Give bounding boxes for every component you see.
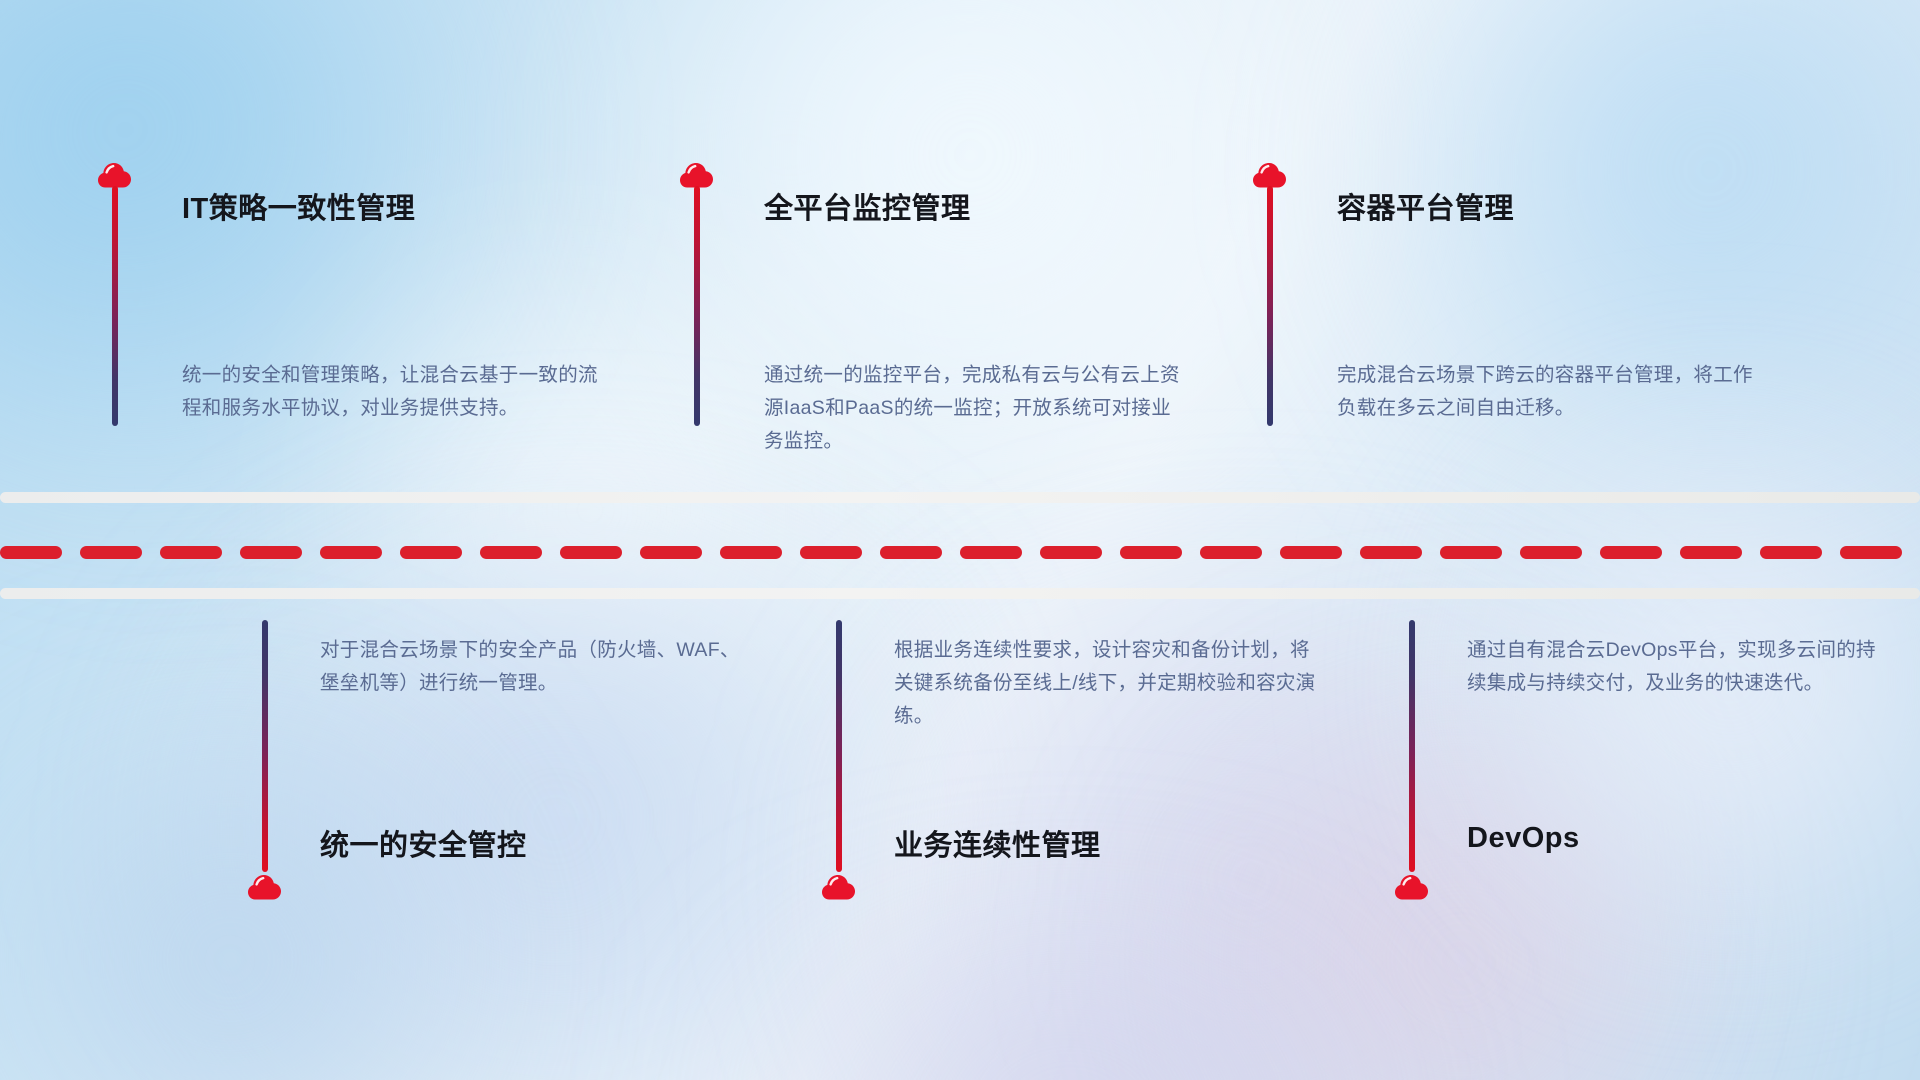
cloud-icon [680,160,714,188]
divider-dash [1120,546,1182,559]
divider-dash [960,546,1022,559]
divider-dash [1680,546,1742,559]
divider-dash [1520,546,1582,559]
divider-dash [1360,546,1422,559]
feature-description: 对于混合云场景下的安全产品（防火墙、WAF、堡垒机等）进行统一管理。 [320,634,742,700]
divider-dash [240,546,302,559]
cloud-icon [822,872,856,900]
cloud-icon [1253,160,1287,188]
feature-title: 全平台监控管理 [764,185,971,227]
divider-dash [80,546,142,559]
feature-title: DevOps [1467,822,1580,855]
divider-dash [1760,546,1822,559]
connector-line [112,186,118,426]
divider-dash [400,546,462,559]
cloud-icon [248,872,282,900]
feature-description: 统一的安全和管理策略，让混合云基于一致的流程和服务水平协议，对业务提供支持。 [182,359,604,425]
feature-description: 根据业务连续性要求，设计容灾和备份计划，将关键系统备份至线上/线下，并定期校验和… [894,634,1316,733]
cloud-icon [1395,872,1429,900]
feature-title: IT策略一致性管理 [182,185,415,227]
divider-dash [880,546,942,559]
feature-title: 业务连续性管理 [894,822,1101,864]
cloud-icon [98,160,132,188]
divider-dash [480,546,542,559]
feature-description: 通过自有混合云DevOps平台，实现多云间的持续集成与持续交付，及业务的快速迭代… [1467,634,1889,700]
connector-line [836,620,842,872]
divider-dash [1200,546,1262,559]
divider-rule-top [0,492,1920,503]
divider-dashed-line [0,546,1920,559]
divider-dash [720,546,782,559]
feature-description: 通过统一的监控平台，完成私有云与公有云上资源IaaS和PaaS的统一监控；开放系… [764,359,1186,458]
connector-line [1409,620,1415,872]
connector-line [1267,186,1273,426]
divider-dash [1600,546,1662,559]
divider-dash [800,546,862,559]
divider-rule-bottom [0,588,1920,599]
divider-dash [1440,546,1502,559]
divider-dash [560,546,622,559]
divider-dash [1040,546,1102,559]
feature-title: 容器平台管理 [1337,185,1514,227]
feature-description: 完成混合云场景下跨云的容器平台管理，将工作负载在多云之间自由迁移。 [1337,359,1759,425]
connector-line [694,186,700,426]
divider-dash [1280,546,1342,559]
divider-dash [160,546,222,559]
divider-dash [0,546,62,559]
connector-line [262,620,268,872]
feature-title: 统一的安全管控 [320,822,527,864]
divider-dash [1840,546,1902,559]
divider-dash [640,546,702,559]
divider-dash [320,546,382,559]
